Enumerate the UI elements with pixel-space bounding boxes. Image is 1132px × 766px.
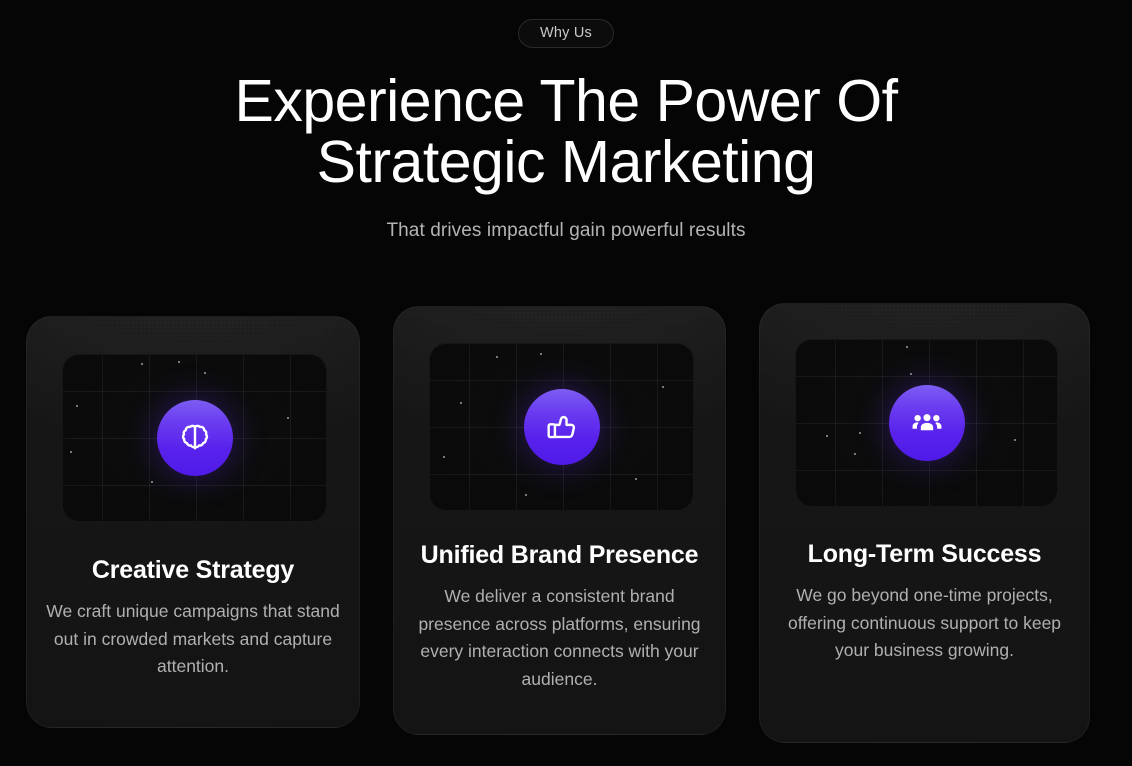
star-dot (859, 432, 861, 434)
card-description: We craft unique campaigns that stand out… (45, 598, 341, 681)
card-icon-badge (157, 400, 233, 476)
star-dot (151, 481, 153, 483)
star-dot (826, 435, 828, 437)
card-description: We go beyond one-time projects, offering… (778, 582, 1071, 665)
card-title: Unified Brand Presence (408, 540, 711, 570)
feature-card-unified-brand-presence[interactable]: Unified Brand Presence We deliver a cons… (393, 306, 726, 735)
star-dot (141, 363, 143, 365)
star-dot (287, 417, 289, 419)
star-dot (662, 386, 664, 388)
card-title: Long-Term Success (774, 539, 1075, 569)
feature-card-long-term-success[interactable]: Long-Term Success We go beyond one-time … (759, 303, 1090, 743)
card-title: Creative Strategy (41, 555, 345, 585)
star-dot (496, 356, 498, 358)
star-dot (525, 494, 527, 496)
feature-card-grid: Creative Strategy We craft unique campai… (0, 0, 1132, 766)
brain-icon (178, 421, 212, 455)
card-icon-badge (524, 389, 600, 465)
card-media-panel (429, 343, 694, 511)
thumbs-up-icon (545, 410, 579, 444)
star-dot (70, 451, 72, 453)
users-group-icon (910, 406, 944, 440)
star-dot (460, 402, 462, 404)
card-description: We deliver a consistent brand presence a… (412, 583, 707, 693)
star-dot (443, 456, 445, 458)
star-dot (910, 373, 912, 375)
star-dot (540, 353, 542, 355)
feature-card-creative-strategy[interactable]: Creative Strategy We craft unique campai… (26, 316, 360, 728)
card-media-panel (795, 339, 1058, 507)
star-dot (854, 453, 856, 455)
card-icon-badge (889, 385, 965, 461)
star-dot (76, 405, 78, 407)
card-media-panel (62, 354, 327, 522)
star-dot (635, 478, 637, 480)
star-dot (178, 361, 180, 363)
why-us-section: Why Us Experience The Power Of Strategic… (0, 0, 1132, 766)
star-dot (1014, 439, 1016, 441)
star-dot (906, 346, 908, 348)
star-dot (204, 372, 206, 374)
